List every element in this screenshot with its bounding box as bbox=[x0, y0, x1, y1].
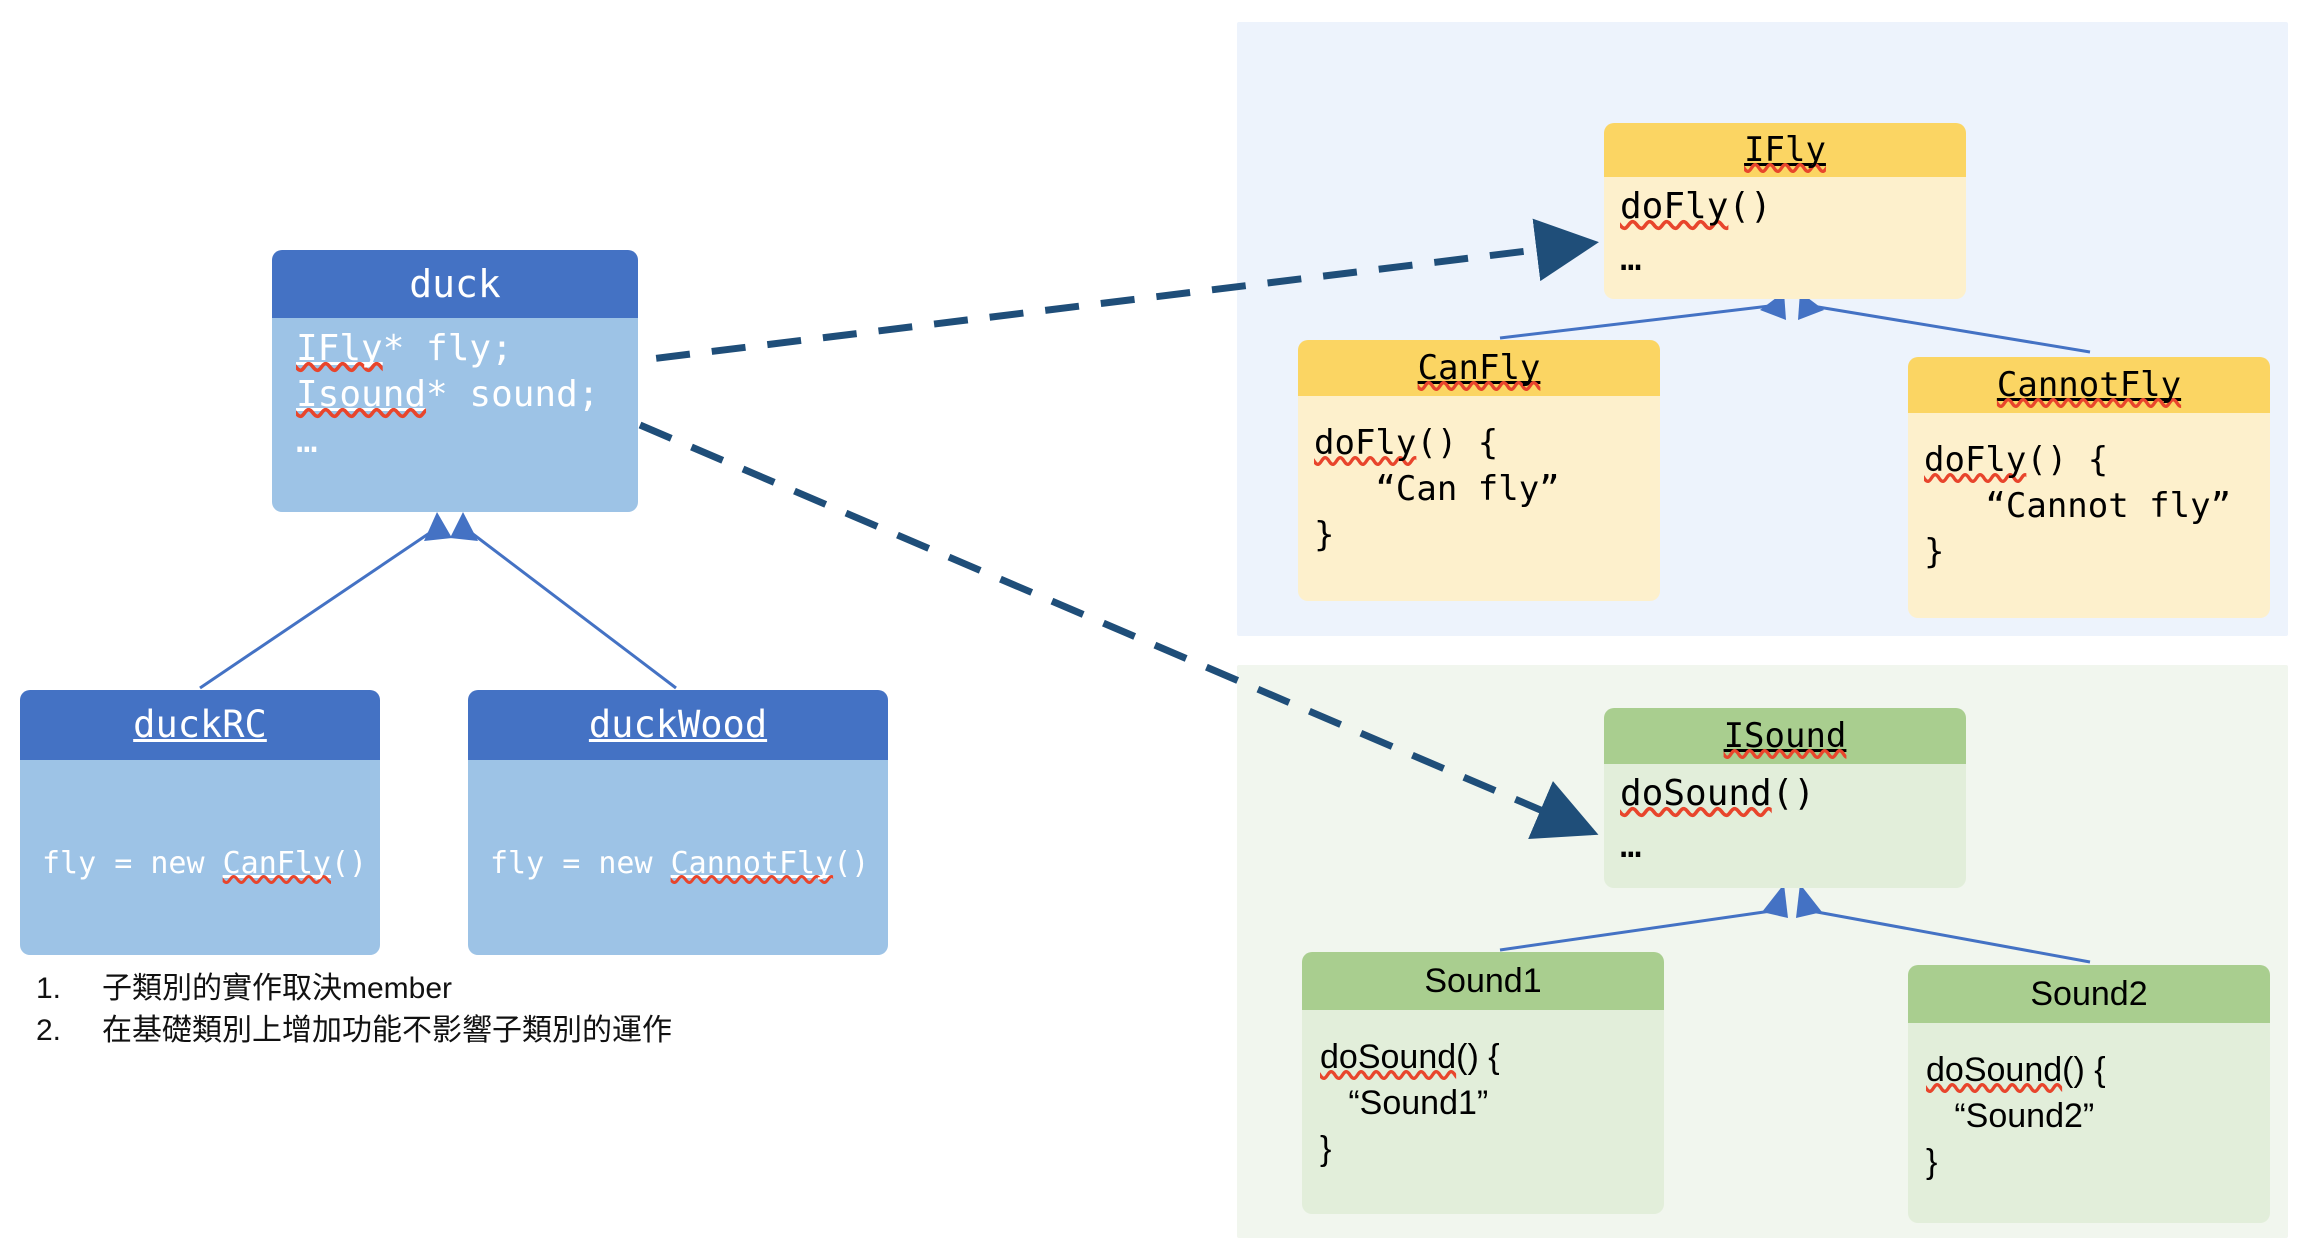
class-ref-canfly: CanFly bbox=[223, 846, 331, 881]
class-title-isound: ISound bbox=[1604, 708, 1966, 764]
edge-duckrc-to-duck bbox=[200, 512, 452, 688]
note-number: 1. bbox=[36, 968, 102, 1010]
edge-duckwood-to-duck bbox=[450, 512, 676, 688]
class-title-ifly: IFly bbox=[1604, 123, 1966, 177]
class-body-canfly: doFly() { “Can fly” } bbox=[1298, 396, 1660, 601]
method-close-sound1: } bbox=[1320, 1130, 1331, 1168]
class-title-duckrc: duckRC bbox=[20, 690, 380, 760]
method-rest-canfly: () { bbox=[1416, 423, 1498, 463]
method-rest-sound2: () { bbox=[2062, 1051, 2105, 1089]
class-body-cannotfly: doFly() { “Cannot fly” } bbox=[1908, 413, 2270, 618]
method-dofly-canfly: doFly bbox=[1314, 423, 1416, 463]
method-close-cannotfly: } bbox=[1924, 532, 1944, 572]
method-return-cannotfly: “Cannot fly” bbox=[1924, 486, 2231, 526]
note-text: 子類別的實作取決member bbox=[102, 968, 936, 1010]
note-text: 在基礎類別上增加功能不影響子類別的運作 bbox=[102, 1010, 936, 1052]
class-title-cannotfly: CannotFly bbox=[1908, 357, 2270, 413]
method-dofly-ifly: doFly bbox=[1620, 186, 1728, 227]
notes-list: 1. 子類別的實作取決member 2. 在基礎類別上增加功能不影響子類別的運作 bbox=[36, 968, 936, 1052]
assign-post-duckrc: () bbox=[331, 846, 367, 881]
member-type-ifly: IFly bbox=[296, 328, 383, 369]
member-type-isound: Isound bbox=[296, 374, 426, 415]
method-dosound-sound2: doSound bbox=[1926, 1051, 2062, 1089]
list-item: 1. 子類別的實作取決member bbox=[36, 968, 936, 1010]
method-close-canfly: } bbox=[1314, 515, 1334, 555]
method-dofly-cannotfly: doFly bbox=[1924, 440, 2026, 480]
class-title-sound1: Sound1 bbox=[1302, 952, 1664, 1010]
member-ellipsis-isound: … bbox=[1620, 825, 1644, 866]
assign-pre-duckrc: fly = new bbox=[42, 846, 223, 881]
assign-post-duckwood: () bbox=[833, 846, 869, 881]
note-number: 2. bbox=[36, 1010, 102, 1052]
method-close-sound2: } bbox=[1926, 1143, 1937, 1181]
class-box-cannotfly[interactable]: CannotFly doFly() { “Cannot fly” } bbox=[1908, 357, 2270, 618]
class-box-ifly[interactable]: IFly doFly() … bbox=[1604, 123, 1966, 299]
class-body-ifly: doFly() … bbox=[1604, 177, 1966, 299]
member-rest-sound: * sound; bbox=[426, 374, 599, 415]
method-dosound-sound1: doSound bbox=[1320, 1038, 1456, 1076]
class-body-sound2: doSound() { “Sound2” } bbox=[1908, 1023, 2270, 1223]
method-return-sound2: “Sound2” bbox=[1926, 1097, 2094, 1135]
list-item: 2. 在基礎類別上增加功能不影響子類別的運作 bbox=[36, 1010, 936, 1052]
class-box-duck[interactable]: duck IFly* fly; Isound* sound; … bbox=[272, 250, 638, 512]
member-ellipsis-ifly: … bbox=[1620, 238, 1644, 279]
member-ellipsis-duck: … bbox=[296, 420, 320, 461]
diagram-canvas: duck IFly* fly; Isound* sound; … duckRC … bbox=[0, 0, 2318, 1258]
class-ref-cannotfly: CannotFly bbox=[671, 846, 834, 881]
class-body-duckwood: fly = new CannotFly() bbox=[468, 760, 888, 955]
method-rest-ifly: () bbox=[1728, 186, 1771, 227]
method-return-sound1: “Sound1” bbox=[1320, 1084, 1488, 1122]
class-body-duckrc: fly = new CanFly() bbox=[20, 760, 380, 955]
method-return-canfly: “Can fly” bbox=[1314, 469, 1560, 509]
class-title-duckwood: duckWood bbox=[468, 690, 888, 760]
class-box-duckwood[interactable]: duckWood fly = new CannotFly() bbox=[468, 690, 888, 955]
class-body-isound: doSound() … bbox=[1604, 764, 1966, 888]
class-box-sound1[interactable]: Sound1 doSound() { “Sound1” } bbox=[1302, 952, 1664, 1214]
member-rest-fly: * fly; bbox=[383, 328, 513, 369]
class-body-sound1: doSound() { “Sound1” } bbox=[1302, 1010, 1664, 1214]
method-rest-sound1: () { bbox=[1456, 1038, 1499, 1076]
class-title-duck: duck bbox=[272, 250, 638, 318]
class-box-duckrc[interactable]: duckRC fly = new CanFly() bbox=[20, 690, 380, 955]
class-title-sound2: Sound2 bbox=[1908, 965, 2270, 1023]
class-title-canfly: CanFly bbox=[1298, 340, 1660, 396]
class-box-isound[interactable]: ISound doSound() … bbox=[1604, 708, 1966, 888]
assign-pre-duckwood: fly = new bbox=[490, 846, 671, 881]
class-box-canfly[interactable]: CanFly doFly() { “Can fly” } bbox=[1298, 340, 1660, 601]
class-body-duck: IFly* fly; Isound* sound; … bbox=[272, 318, 638, 512]
method-rest-cannotfly: () { bbox=[2026, 440, 2108, 480]
method-rest-isound: () bbox=[1772, 773, 1815, 814]
method-dosound-isound: doSound bbox=[1620, 773, 1772, 814]
class-box-sound2[interactable]: Sound2 doSound() { “Sound2” } bbox=[1908, 965, 2270, 1223]
